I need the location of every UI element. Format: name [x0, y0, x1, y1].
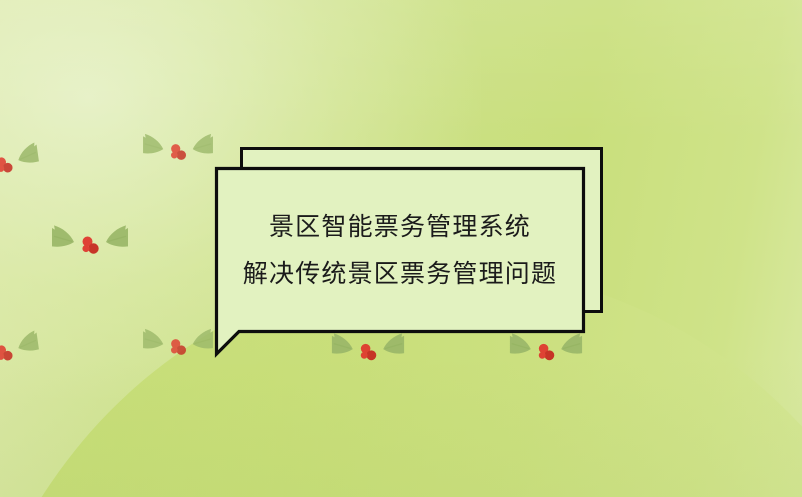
- banner-canvas: 景区智能票务管理系统 解决传统景区票务管理问题: [0, 0, 802, 497]
- bubble-line-1: 景区智能票务管理系统: [269, 203, 531, 250]
- bubble-line-2: 解决传统景区票务管理问题: [243, 250, 557, 297]
- speech-bubble-text: 景区智能票务管理系统 解决传统景区票务管理问题: [215, 167, 585, 333]
